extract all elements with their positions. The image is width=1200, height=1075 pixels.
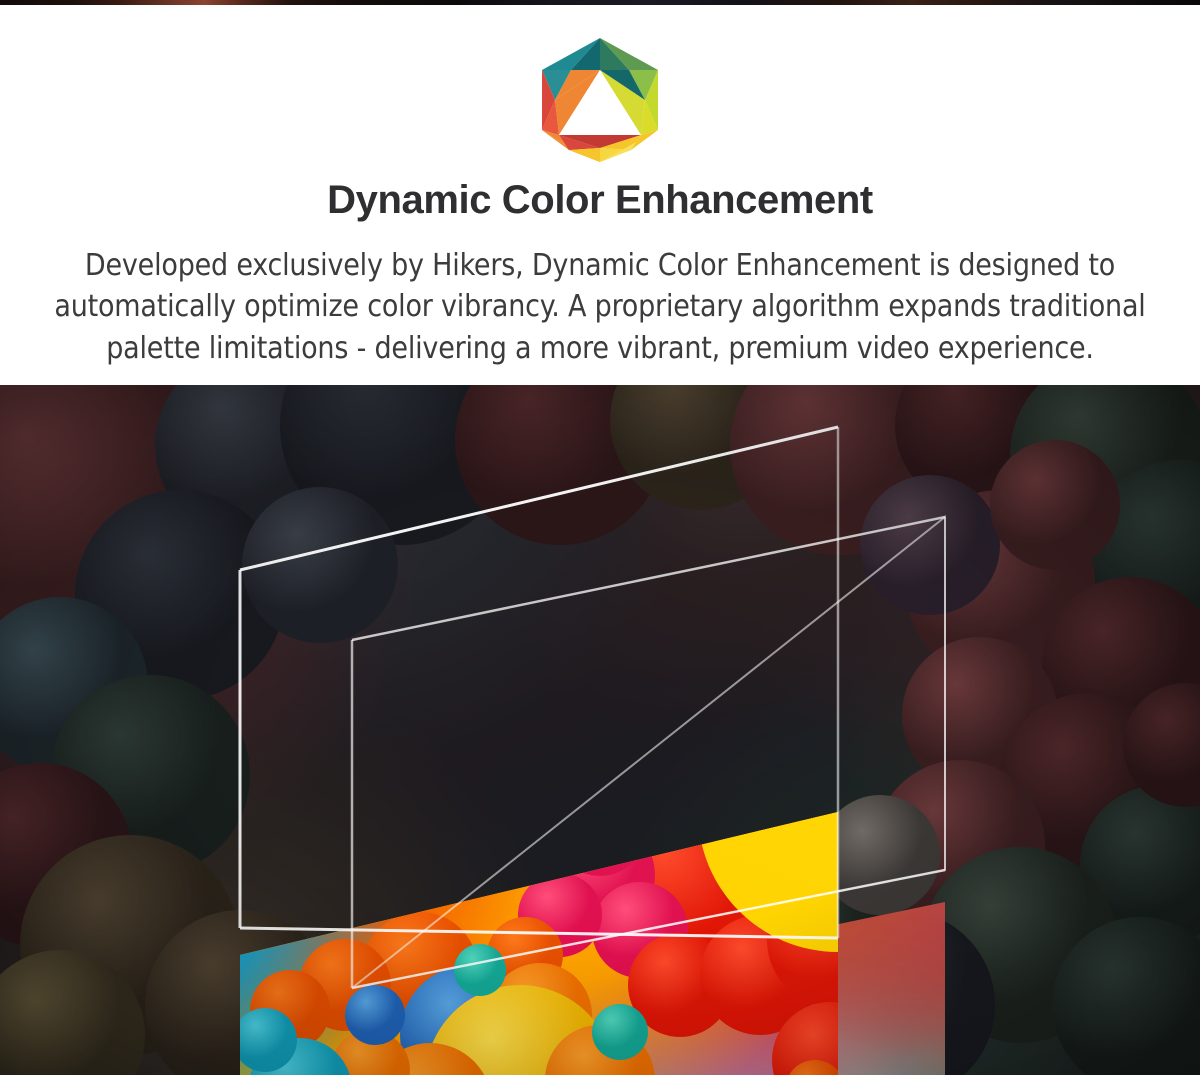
feature-header: Dynamic Color Enhancement Developed excl…: [0, 5, 1200, 385]
hexagon-prism-logo: [525, 30, 675, 170]
description-line-2: automatically optimize color vibrancy. A…: [50, 286, 1150, 327]
glass-panel-back-outline: [352, 517, 945, 988]
page-root: Dynamic Color Enhancement Developed excl…: [0, 0, 1200, 1075]
glass-panel-front-bottom-edge: [240, 928, 838, 938]
page-title: Dynamic Color Enhancement: [0, 177, 1200, 223]
balloon-photo-stage: [0, 385, 1200, 1075]
glass-panel-front-top-edge: [240, 427, 838, 570]
description-line-1: Developed exclusively by Hikers, Dynamic…: [50, 245, 1150, 286]
feature-description: Developed exclusively by Hikers, Dynamic…: [50, 245, 1150, 369]
description-line-3: palette limitations - delivering a more …: [50, 328, 1150, 369]
panel-edge-highlights: [0, 385, 1200, 1075]
